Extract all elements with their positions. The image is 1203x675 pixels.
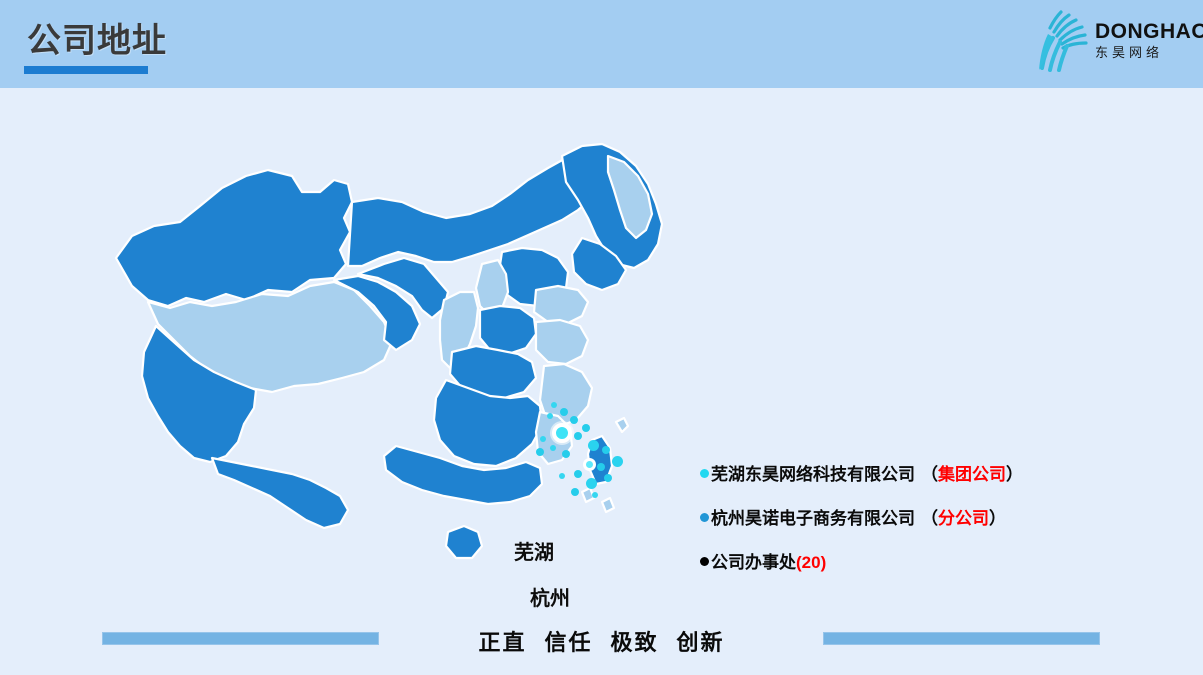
marker-office[interactable]: [592, 492, 598, 498]
marker-office[interactable]: [588, 440, 599, 451]
legend-tag: (20): [796, 553, 826, 573]
marker-office[interactable]: [602, 446, 610, 454]
legend-tag-close: ）: [989, 509, 1006, 528]
marker-office[interactable]: [547, 413, 553, 419]
legend-tag-value: 集团公司: [938, 465, 1006, 484]
legend-tag-value: (20): [796, 553, 826, 572]
marker-office[interactable]: [571, 488, 579, 496]
slogan-word-3: 极致: [611, 630, 659, 655]
legend-bullet-icon: [700, 469, 709, 478]
legend-tag-value: 分公司: [938, 509, 989, 528]
china-map: 芜湖 杭州: [96, 140, 696, 610]
page-header: 公司地址 DONGHAO: [0, 0, 1203, 88]
island-a: [616, 418, 628, 432]
slogan-word-1: 正直: [478, 630, 526, 655]
slogan-word-4: 创新: [677, 630, 725, 655]
marker-office[interactable]: [536, 448, 544, 456]
marker-office[interactable]: [560, 408, 568, 416]
feather-wing-icon: [1031, 8, 1093, 74]
province-henan: [480, 306, 536, 354]
legend-bullet-icon: [700, 557, 709, 566]
island-c: [602, 498, 614, 512]
legend-label: 杭州昊诺电子商务有限公司: [711, 504, 915, 529]
slogan-word-2: 信任: [544, 630, 592, 655]
legend-item-branch: 杭州昊诺电子商务有限公司 （分公司）: [700, 504, 1120, 529]
marker-office[interactable]: [562, 450, 570, 458]
marker-office[interactable]: [540, 436, 546, 442]
legend: 芜湖东昊网络科技有限公司 （集团公司） 杭州昊诺电子商务有限公司 （分公司） 公…: [700, 460, 1120, 592]
legend-tag: （分公司）: [921, 504, 1006, 529]
legend-label: 芜湖东昊网络科技有限公司: [711, 460, 915, 485]
province-yunnan: [212, 458, 348, 528]
logo-name: DONGHAO: [1095, 20, 1191, 43]
marker-office[interactable]: [597, 463, 605, 471]
logo-subtitle: 东昊网络: [1095, 44, 1191, 62]
marker-office[interactable]: [586, 478, 597, 489]
page-title: 公司地址: [27, 21, 167, 61]
company-logo: DONGHAO 东昊网络: [1031, 6, 1191, 76]
legend-tag: （集团公司）: [921, 460, 1023, 485]
marker-branch-hangzhou[interactable]: [583, 458, 596, 471]
legend-tag-open: （: [921, 509, 938, 528]
legend-label: 公司办事处: [711, 548, 796, 573]
city-label-hangzhou: 杭州: [530, 582, 570, 611]
province-hainan: [446, 526, 482, 558]
logo-wordmark: DONGHAO 东昊网络: [1095, 20, 1191, 62]
legend-item-offices: 公司办事处 (20): [700, 548, 1120, 573]
legend-item-headquarters: 芜湖东昊网络科技有限公司 （集团公司）: [700, 460, 1120, 485]
marker-office[interactable]: [550, 445, 556, 451]
title-underline: [24, 66, 148, 74]
province-shandong: [534, 286, 588, 324]
city-label-wuhu: 芜湖: [514, 536, 554, 565]
china-map-svg: [96, 140, 696, 610]
legend-tag-open: （: [921, 465, 938, 484]
province-jiangsu: [536, 320, 588, 364]
marker-office[interactable]: [570, 416, 578, 424]
legend-tag-close: ）: [1006, 465, 1023, 484]
marker-office[interactable]: [612, 456, 623, 467]
marker-headquarters-wuhu[interactable]: [552, 423, 572, 443]
marker-office[interactable]: [574, 432, 582, 440]
legend-bullet-icon: [700, 513, 709, 522]
marker-office[interactable]: [551, 402, 557, 408]
marker-office[interactable]: [559, 473, 565, 479]
marker-office[interactable]: [604, 474, 612, 482]
marker-office[interactable]: [574, 470, 582, 478]
footer-slogan: 正直信任极致创新: [0, 625, 1203, 657]
marker-office[interactable]: [582, 424, 590, 432]
